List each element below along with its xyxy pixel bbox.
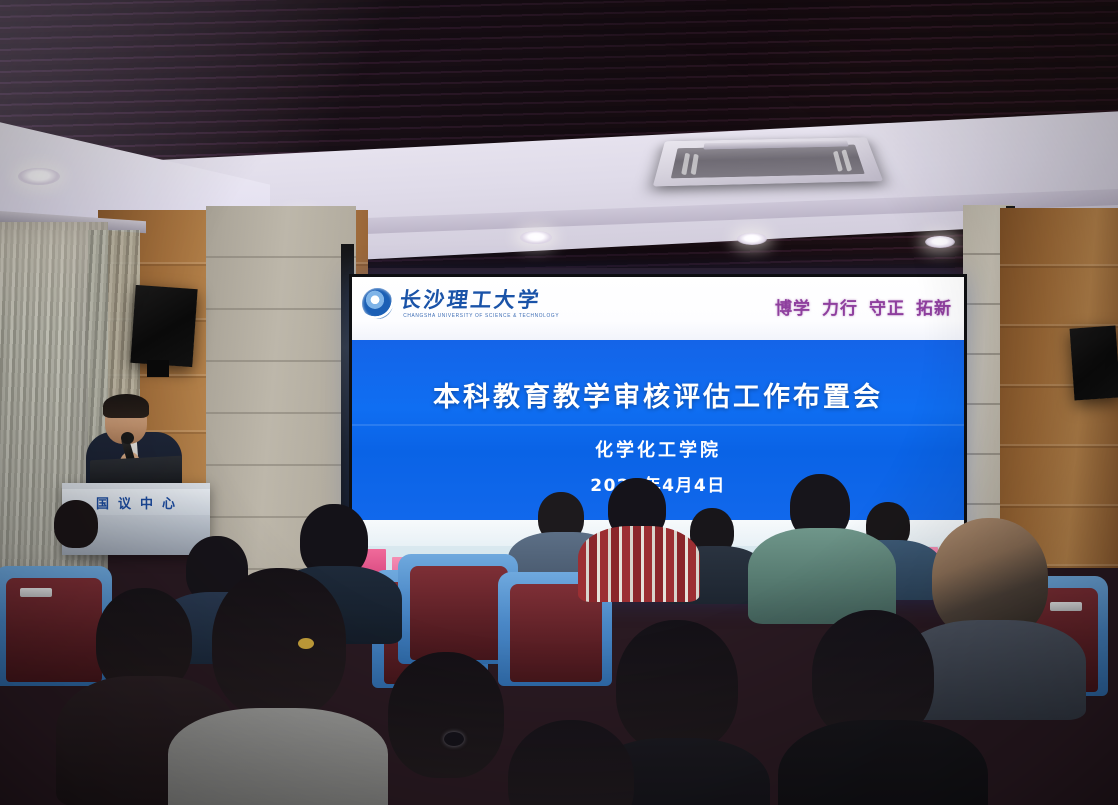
attendee-head	[508, 720, 634, 805]
seat-number-plate	[1050, 602, 1082, 611]
downlight-icon	[925, 236, 955, 248]
downlight-icon	[18, 168, 60, 185]
attendee-head-ponytail	[212, 568, 346, 718]
university-logo: 长沙理工大学 CHANGSHA UNIVERSITY OF SCIENCE & …	[362, 288, 562, 319]
motto-char-4: 拓新	[916, 294, 952, 319]
motto-char-3: 守正	[869, 294, 905, 319]
ceiling-cassette-air-conditioner	[653, 137, 883, 186]
university-motto: 博学 力行 守正 拓新	[775, 294, 952, 319]
wall-speaker-left	[130, 285, 197, 367]
slide-header: 长沙理工大学 CHANGSHA UNIVERSITY OF SCIENCE & …	[352, 277, 964, 340]
attendee-head	[616, 620, 738, 752]
attendee-head	[388, 652, 504, 778]
motto-char-1: 博学	[775, 294, 811, 319]
logo-english-name: CHANGSHA UNIVERSITY OF SCIENCE & TECHNOL…	[403, 314, 559, 319]
auditorium-photo-scene: 长沙理工大学 CHANGSHA UNIVERSITY OF SCIENCE & …	[0, 0, 1118, 805]
hair-clip-icon	[298, 638, 314, 649]
downlight-icon	[520, 231, 552, 244]
attendee-black-turtleneck	[778, 720, 988, 805]
attendee-grey-top	[168, 708, 388, 805]
seat-cushion	[410, 566, 508, 660]
slide-seam	[352, 424, 964, 426]
university-crest-icon	[362, 288, 393, 319]
attendee-plaid-shirt	[578, 526, 700, 602]
logo-text-block: 长沙理工大学 CHANGSHA UNIVERSITY OF SCIENCE & …	[400, 289, 562, 319]
audience-area	[0, 470, 1118, 805]
presenter-hair	[103, 394, 149, 418]
seat-number-plate	[20, 588, 52, 597]
microphone-head-icon	[121, 432, 134, 444]
motto-char-2: 力行	[822, 294, 858, 319]
hair-tie-icon	[444, 732, 464, 746]
downlight-icon	[737, 233, 767, 245]
slide-subtitle: 化学化工学院	[352, 436, 964, 462]
slide-title: 本科教育教学审核评估工作布置会	[352, 375, 964, 414]
speaker-bracket-left	[147, 360, 169, 377]
wall-speaker-right	[1070, 325, 1118, 400]
logo-chinese-name: 长沙理工大学	[399, 289, 564, 310]
